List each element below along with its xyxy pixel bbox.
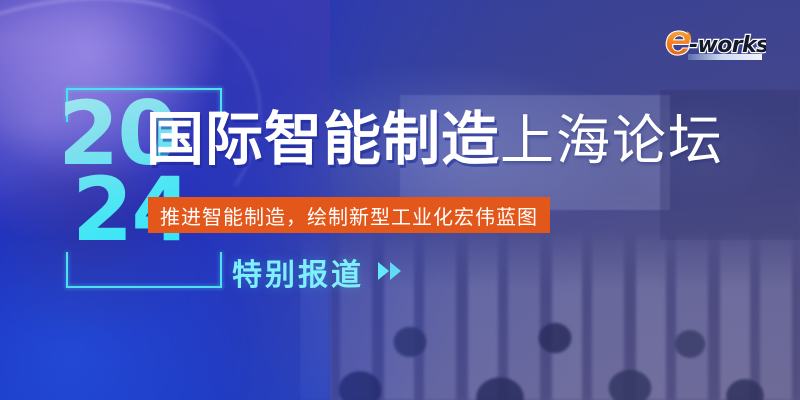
eworks-logo[interactable]: -works: [662, 27, 766, 67]
subtitle-bar: 推进智能制造，绘制新型工业化宏伟蓝图: [148, 197, 550, 233]
svg-text:-works: -works: [689, 33, 766, 58]
title-bold-part: 国际智能制造: [146, 105, 500, 173]
forum-banner: 20 24 国际智能制造上海论坛 推进智能制造，绘制新型工业化宏伟蓝图 特别报道: [0, 0, 800, 400]
title-light-part: 上海论坛: [500, 109, 724, 172]
chevron-1: [378, 262, 389, 280]
page-title: 国际智能制造上海论坛: [146, 110, 724, 168]
double-chevron-right-icon: [378, 262, 401, 280]
subtitle-text: 推进智能制造，绘制新型工业化宏伟蓝图: [160, 201, 538, 230]
chevron-2: [390, 262, 401, 280]
special-report-label: 特别报道: [232, 250, 364, 294]
special-report-cta[interactable]: 特别报道: [232, 250, 401, 294]
